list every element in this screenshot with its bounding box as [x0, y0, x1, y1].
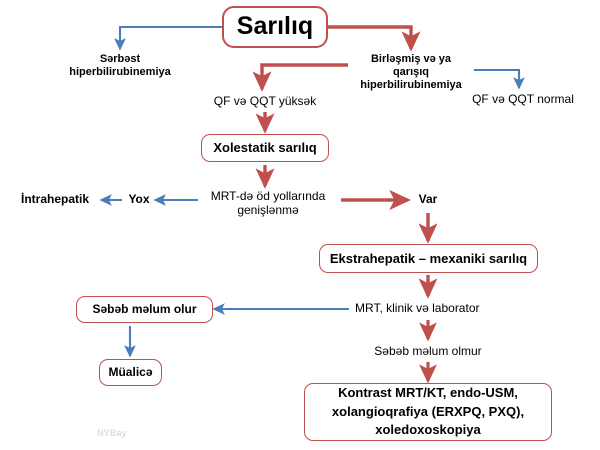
node-intrahepatik-label: İntrahepatik: [21, 192, 89, 206]
node-kontrast-line3: xoledoxoskopiya: [375, 421, 480, 439]
node-var-label: Var: [419, 192, 438, 206]
node-qf-yuksek-label: QF və QQT yüksək: [214, 94, 316, 108]
node-yox: Yox: [123, 192, 155, 206]
node-mrt-od-line1: MRT-də öd yollarında: [195, 189, 341, 203]
node-qf-qqt-yuksek: QF və QQT yüksək: [197, 94, 333, 108]
node-kontrast-mrt-kt[interactable]: Kontrast MRT/KT, endo-USM, xolangioqrafi…: [304, 383, 552, 441]
node-mrt-klinik-label: MRT, klinik və laborator: [355, 301, 480, 315]
node-serbest-line1: Sərbəst: [52, 53, 188, 66]
node-mrt-od-yollarinda-genislenme: MRT-də öd yollarında genişlənmə: [195, 189, 341, 217]
node-mualice[interactable]: Müalicə: [99, 359, 162, 386]
node-birlesmis-line2: qarışıq hiperbilirubinemiya: [344, 66, 478, 92]
node-xolestatik-sariliq[interactable]: Xolestatik sarılıq: [201, 134, 329, 162]
node-sariliq-label: Sarılıq: [237, 12, 313, 42]
node-kontrast-line2: xolangioqrafiya (ERXPQ, PXQ),: [332, 403, 524, 421]
node-var: Var: [411, 192, 445, 206]
edge-birlesmis-to-qf-normal: [474, 70, 519, 88]
node-intrahepatik: İntrahepatik: [10, 192, 100, 206]
edge-sariliq-to-birlesmis: [327, 27, 411, 49]
node-mrt-klinik-laborator: MRT, klinik və laborator: [355, 301, 511, 315]
node-sebeb-olmur-label: Səbəb məlum olmur: [374, 344, 481, 358]
node-ekstrahepatik-label: Ekstrahepatik – mexaniki sarılıq: [330, 251, 527, 266]
node-sebeb-melum-olmur: Səbəb məlum olmur: [352, 344, 504, 358]
edge-sariliq-to-serbest: [120, 27, 222, 49]
node-ekstrahepatik-mexaniki-sariliq[interactable]: Ekstrahepatik – mexaniki sarılıq: [319, 244, 538, 273]
node-serbest-line2: hiperbilirubinemiya: [52, 66, 188, 79]
node-qf-normal-label: QF və QQT normal: [472, 92, 574, 106]
node-birlesmis-qarisiq-hiperbilirubinemiya: Birləşmiş və ya qarışıq hiperbilirubinem…: [344, 53, 478, 92]
node-mualice-label: Müalicə: [108, 365, 152, 379]
node-qf-qqt-normal: QF və QQT normal: [453, 92, 593, 106]
node-xolestatik-label: Xolestatik sarılıq: [213, 140, 316, 155]
node-sebeb-olur-label: Səbəb məlum olur: [92, 302, 196, 316]
node-sariliq[interactable]: Sarılıq: [222, 6, 328, 48]
node-yox-label: Yox: [128, 192, 149, 206]
node-kontrast-line1: Kontrast MRT/KT, endo-USM,: [338, 384, 518, 402]
node-serbest-hiperbilirubinemiya: Sərbəst hiperbilirubinemiya: [52, 53, 188, 79]
flowchart-canvas: Sarılıq Sərbəst hiperbilirubinemiya Birl…: [0, 0, 600, 450]
node-birlesmis-line1: Birləşmiş və ya: [344, 53, 478, 66]
node-mrt-od-line2: genişlənmə: [195, 203, 341, 217]
node-sebeb-melum-olur[interactable]: Səbəb məlum olur: [76, 296, 213, 323]
edge-birlesmis-to-qf-yuksek: [262, 65, 348, 89]
watermark: NYBay: [97, 428, 127, 438]
